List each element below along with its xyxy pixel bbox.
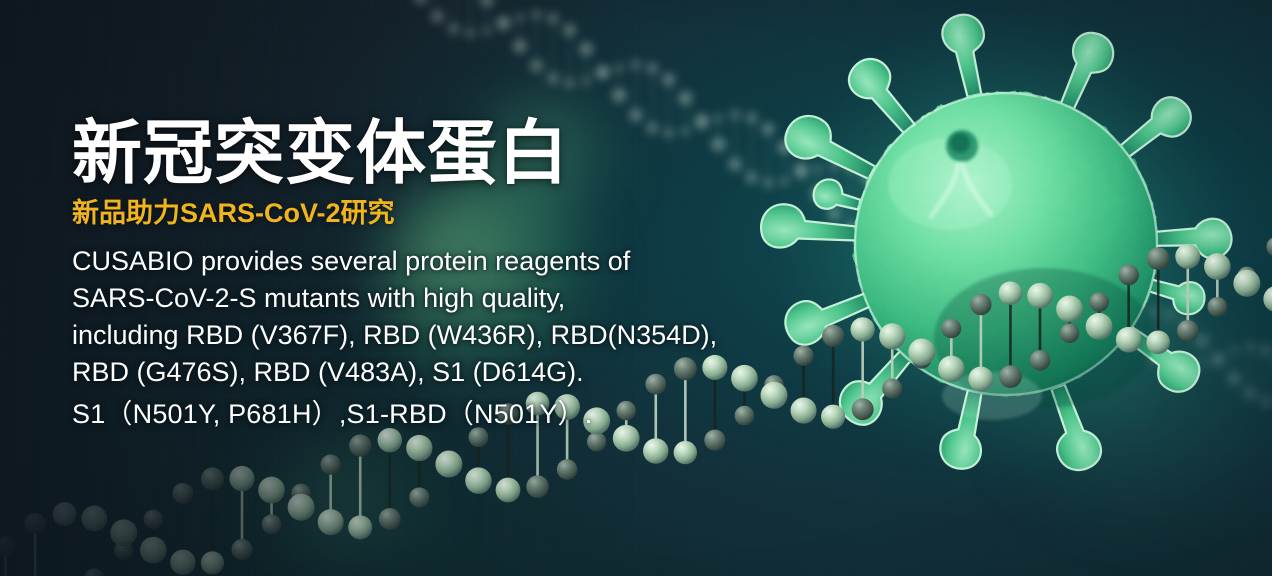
description-line: CUSABIO provides several protein reagent… [72,243,792,280]
description-line: RBD (G476S), RBD (V483A), S1 (D614G). [72,354,792,391]
page-subtitle: 新品助力SARS-CoV-2研究 [72,198,792,229]
banner-copy: 新冠突变体蛋白 新品助力SARS-CoV-2研究 CUSABIO provide… [72,118,792,433]
description-line-variants: S1（N501Y, P681H）,S1-RBD（N501Y）. [72,396,792,433]
description-line: including RBD (V367F), RBD (W436R), RBD(… [72,317,792,354]
description-line: SARS-CoV-2-S mutants with high quality, [72,280,792,317]
promo-banner: 新冠突变体蛋白 新品助力SARS-CoV-2研究 CUSABIO provide… [0,0,1272,576]
page-title: 新冠突变体蛋白 [72,118,792,188]
banner-description: CUSABIO provides several protein reagent… [72,243,792,433]
